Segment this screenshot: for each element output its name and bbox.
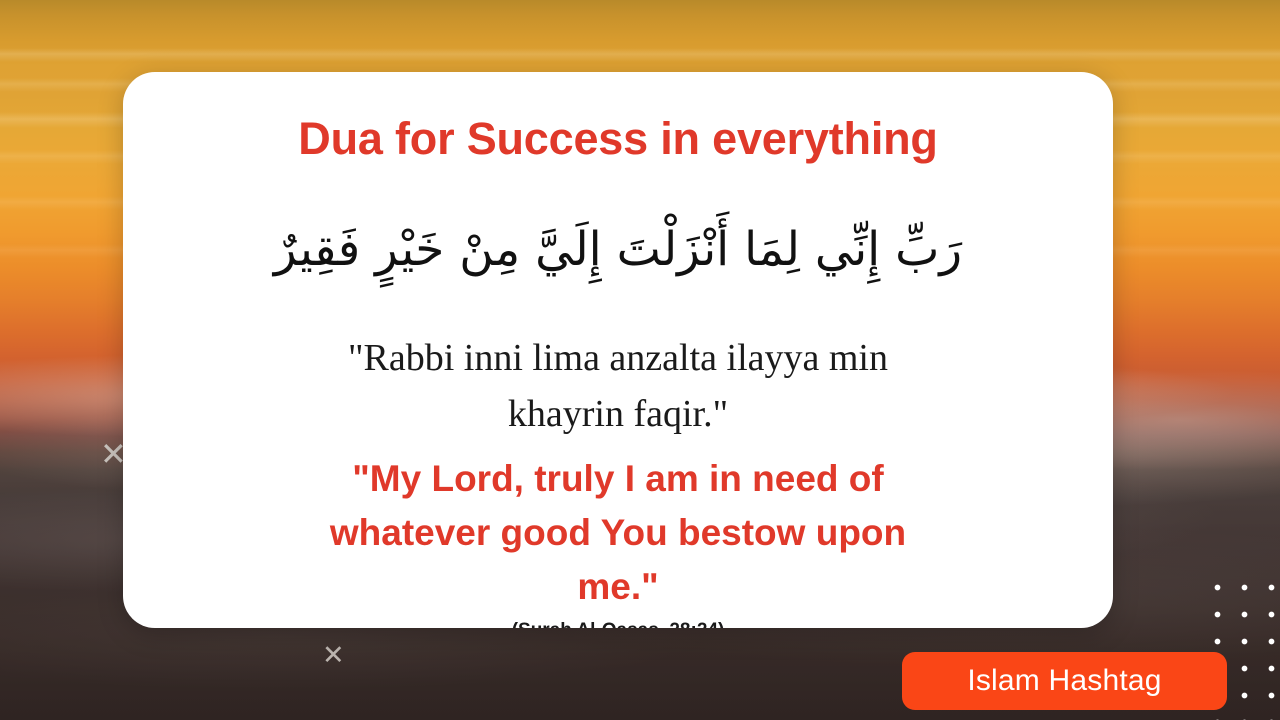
- brand-badge[interactable]: Islam Hashtag: [902, 652, 1227, 710]
- slide-canvas: ✕ ✕ Dua for Success in everything رَبِّ …: [0, 0, 1280, 720]
- arabic-dua-text: رَبِّ إِنِّي لِمَا أَنْزَلْتَ إِلَيَّ مِ…: [169, 216, 1067, 284]
- dua-card: Dua for Success in everything رَبِّ إِنِ…: [123, 72, 1113, 628]
- translation-text: "My Lord, truly I am in need of whatever…: [298, 452, 938, 614]
- quran-citation: (Surah Al-Qasas, 28:24): [169, 620, 1067, 628]
- brand-label: Islam Hashtag: [967, 664, 1161, 698]
- page-title: Dua for Success in everything: [169, 114, 1067, 164]
- transliteration-text: "Rabbi inni lima anzalta ilayya min khay…: [298, 330, 938, 442]
